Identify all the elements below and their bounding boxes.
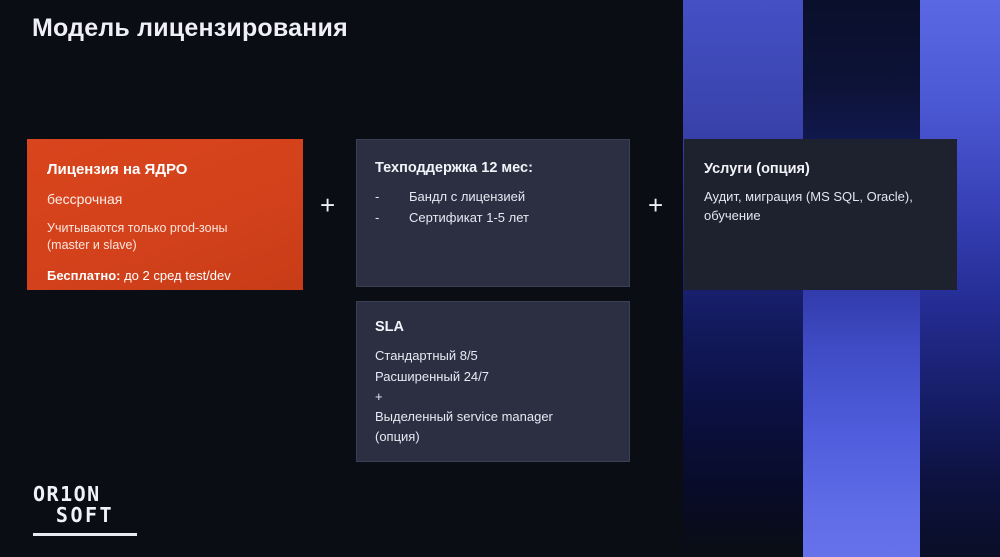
card-core-title: Лицензия на ЯДРО	[47, 161, 283, 179]
card-sla-line-5: (опция)	[375, 427, 607, 447]
logo-line-2: SOFT	[33, 505, 137, 526]
card-sla-line-3: +	[375, 387, 607, 407]
orion-soft-logo: OR1ON SOFT	[33, 484, 137, 536]
card-core-free-label: Бесплатно:	[47, 268, 120, 283]
card-services: Услуги (опция) Аудит, миграция (MS SQL, …	[684, 139, 957, 290]
card-sla-line-4: Выделенный service manager	[375, 407, 607, 427]
bullet-dash-icon: -	[375, 187, 409, 207]
logo-line-1: OR1ON	[33, 484, 137, 505]
slide-root: Модель лицензирования Лицензия на ЯДРО б…	[0, 0, 1000, 557]
card-core-note-line-2: (master и slave)	[47, 237, 283, 254]
logo-underline	[33, 533, 137, 536]
bullet-dash-icon: -	[375, 208, 409, 228]
card-sla-line-2: Расширенный 24/7	[375, 367, 607, 387]
list-item-label: Сертификат 1-5 лет	[409, 208, 529, 228]
card-tech-support: Техподдержка 12 мес: - Бандл с лицензией…	[356, 139, 630, 287]
card-core-subtitle: бессрочная	[47, 191, 283, 208]
card-sla-title: SLA	[375, 319, 607, 336]
card-support-title: Техподдержка 12 мес:	[375, 160, 607, 177]
list-item: - Бандл с лицензией	[375, 187, 607, 207]
plus-connector-2: +	[648, 192, 663, 218]
page-title: Модель лицензирования	[32, 14, 348, 43]
list-item-label: Бандл с лицензией	[409, 187, 525, 207]
card-core-note: Учитываются только prod-зоны (master и s…	[47, 220, 283, 254]
card-support-list: - Бандл с лицензией - Сертификат 1-5 лет	[375, 187, 607, 227]
card-core-note-line-1: Учитываются только prod-зоны	[47, 220, 283, 237]
card-sla-lines: Стандартный 8/5 Расширенный 24/7 + Выдел…	[375, 346, 607, 447]
stripe-gap	[650, 0, 683, 557]
list-item: - Сертификат 1-5 лет	[375, 208, 607, 228]
plus-connector-1: +	[320, 192, 335, 218]
card-core-free-value: до 2 сред test/dev	[120, 268, 230, 283]
card-core-free-row: Бесплатно: до 2 сред test/dev	[47, 268, 283, 285]
card-sla-line-1: Стандартный 8/5	[375, 346, 607, 366]
card-services-title: Услуги (опция)	[704, 161, 935, 178]
card-services-body: Аудит, миграция (MS SQL, Oracle), обучен…	[704, 188, 919, 226]
card-sla: SLA Стандартный 8/5 Расширенный 24/7 + В…	[356, 301, 630, 462]
card-core-license: Лицензия на ЯДРО бессрочная Учитываются …	[27, 139, 303, 290]
